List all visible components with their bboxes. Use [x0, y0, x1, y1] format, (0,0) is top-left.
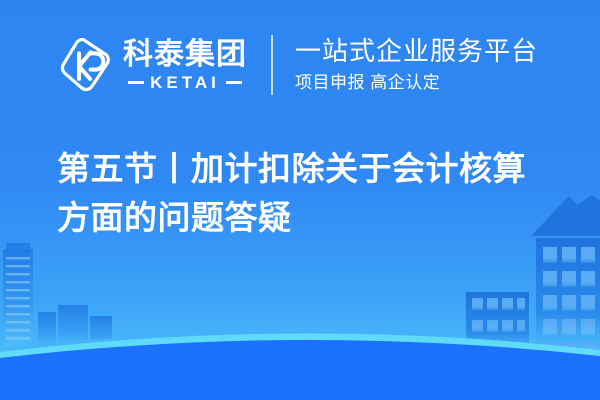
title-block: 第五节丨加计扣除关于会计核算方面的问题答疑: [57, 145, 557, 243]
promo-banner: 科泰集团 KETAI 一站式企业服务平台 项目申报 高企认定 第五节丨加计扣除关…: [0, 0, 600, 400]
logo-dash-right: [226, 81, 242, 84]
brand-logo[interactable]: 科泰集团 KETAI: [57, 36, 247, 94]
brand-name-en: KETAI: [150, 74, 220, 91]
ground-fill: [0, 340, 600, 400]
ketai-kp-diamond-logo-icon: [57, 36, 115, 94]
brand-tagline: 一站式企业服务平台 项目申报 高企认定: [295, 36, 538, 93]
banner-header: 科泰集团 KETAI 一站式企业服务平台 项目申报 高企认定: [0, 0, 600, 130]
horizon-highlight: [0, 333, 600, 360]
header-divider: [271, 35, 273, 95]
tagline-main: 一站式企业服务平台: [295, 36, 538, 67]
brand-name-en-row: KETAI: [123, 74, 247, 91]
right-midrise-building: [466, 292, 529, 358]
page-title: 第五节丨加计扣除关于会计核算方面的问题答疑: [57, 145, 557, 243]
left-lowrise-blocks: [38, 305, 112, 354]
brand-logo-wordmark: 科泰集团 KETAI: [123, 39, 247, 91]
tagline-sub: 项目申报 高企认定: [295, 73, 538, 93]
brand-name-cn: 科泰集团: [123, 39, 247, 71]
left-skyscraper: [3, 243, 33, 353]
logo-dash-left: [128, 81, 144, 84]
